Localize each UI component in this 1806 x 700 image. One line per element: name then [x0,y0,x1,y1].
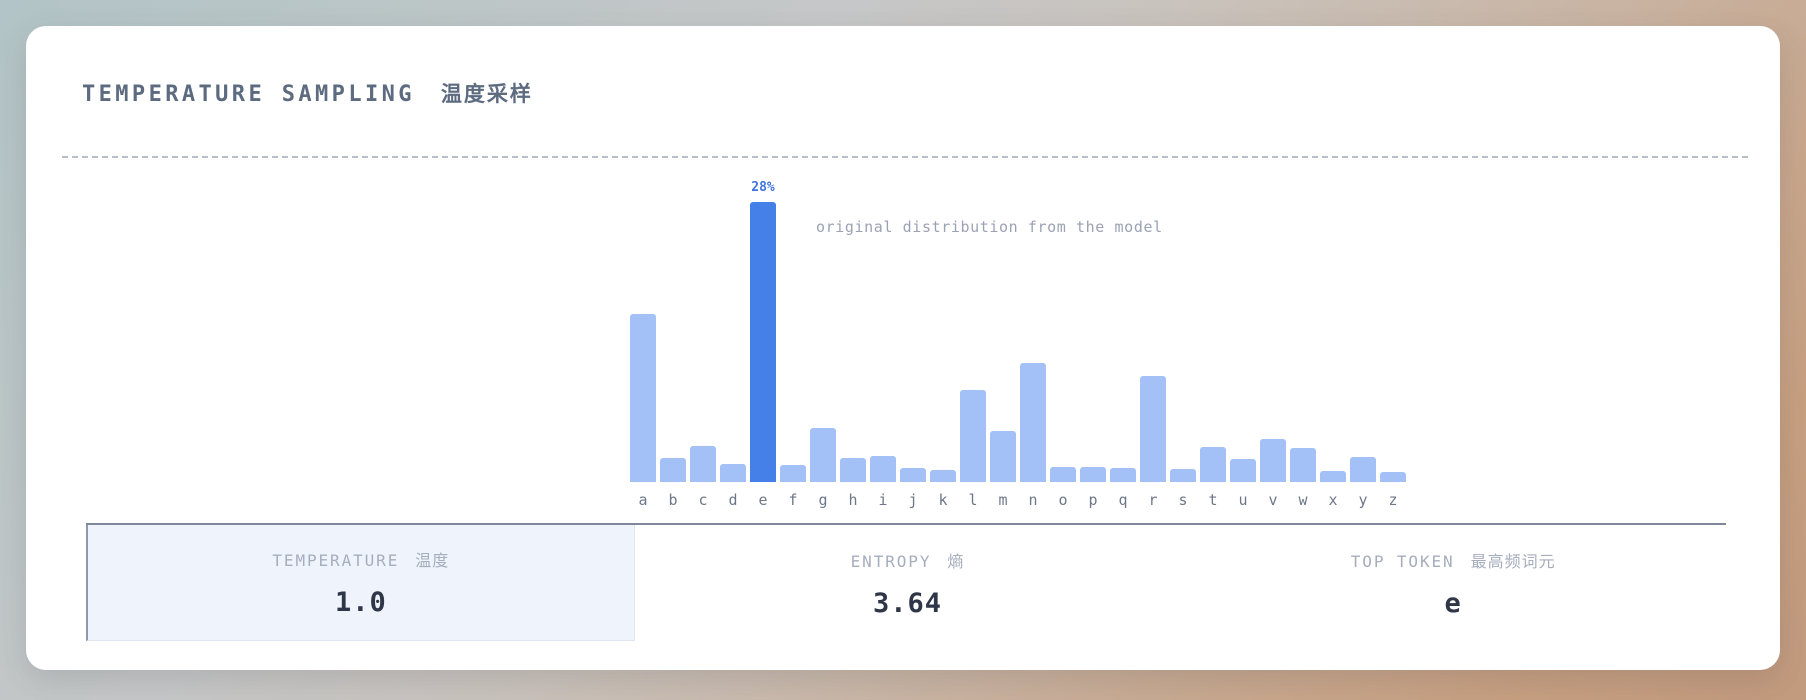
bar-axis-label: z [1388,491,1397,509]
bar-axis-label: r [1148,491,1157,509]
bar-column[interactable]: o [1048,202,1078,482]
bar[interactable] [1200,447,1226,482]
stat-label-en: ENTROPY [851,552,932,571]
stat-cell[interactable]: ENTROPY熵3.64 [635,525,1181,641]
bar[interactable] [960,390,986,482]
bar-column[interactable]: r [1138,202,1168,482]
stat-cell[interactable]: TOP TOKEN最高频词元e [1180,525,1726,641]
bar-axis-label: s [1178,491,1187,509]
page-title-en: TEMPERATURE SAMPLING [82,82,415,107]
bar-axis-label: x [1328,491,1337,509]
stat-value: 3.64 [873,588,942,619]
bar-column[interactable]: v [1258,202,1288,482]
bar-axis-label: q [1118,491,1127,509]
bar[interactable] [720,464,746,482]
stat-cell[interactable]: TEMPERATURE温度1.0 [86,525,635,641]
bar[interactable] [1050,467,1076,482]
stat-label: ENTROPY熵 [851,548,965,572]
bar-axis-label: m [998,491,1007,509]
bar-column[interactable]: q [1108,202,1138,482]
bar-column[interactable]: m [988,202,1018,482]
bar-column[interactable]: f [778,202,808,482]
bar-axis-label: i [878,491,887,509]
bar-column[interactable]: i [868,202,898,482]
bar-column[interactable]: p [1078,202,1108,482]
bar[interactable] [990,431,1016,482]
bar-column[interactable]: j [898,202,928,482]
app-root: TEMPERATURE SAMPLING 温度采样 original distr… [0,0,1806,700]
stats-row: TEMPERATURE温度1.0ENTROPY熵3.64TOP TOKEN最高频… [86,523,1726,641]
bar-column[interactable]: w [1288,202,1318,482]
bar-column[interactable]: b [658,202,688,482]
bar-axis-label: k [938,491,947,509]
bar-column[interactable]: n [1018,202,1048,482]
bar-column[interactable]: g [808,202,838,482]
stat-label-zh: 最高频词元 [1471,548,1556,572]
bar[interactable] [690,446,716,482]
bar-axis-label: u [1238,491,1247,509]
bar-column[interactable]: z [1378,202,1408,482]
bar[interactable] [840,458,866,482]
stat-value: e [1445,588,1462,619]
bar-value-label: 28% [751,180,774,195]
stat-label-en: TEMPERATURE [272,551,399,570]
stat-label-en: TOP TOKEN [1351,552,1455,571]
bar-column[interactable]: t [1198,202,1228,482]
bar-axis-label: n [1028,491,1037,509]
bar[interactable] [1020,363,1046,482]
bar[interactable] [1260,439,1286,482]
bar-axis-label: v [1268,491,1277,509]
stat-label-zh: 温度 [415,547,449,571]
bar[interactable] [870,456,896,482]
bar-axis-label: c [698,491,707,509]
bar-column[interactable]: s [1168,202,1198,482]
distribution-chart: original distribution from the model abc… [26,166,1780,526]
card-header: TEMPERATURE SAMPLING 温度采样 [82,78,533,108]
bar-axis-label: e [758,491,767,509]
bar[interactable] [1230,459,1256,482]
bar-axis-label: y [1358,491,1367,509]
bar[interactable] [900,468,926,482]
bar-axis-label: g [818,491,827,509]
bar[interactable] [660,458,686,482]
bar[interactable] [1380,472,1406,482]
bar-axis-label: j [908,491,917,509]
bar-highlighted[interactable] [750,202,776,482]
bar-axis-label: l [968,491,977,509]
bar[interactable] [1320,471,1346,482]
temperature-sampling-card: TEMPERATURE SAMPLING 温度采样 original distr… [26,26,1780,670]
stat-label: TOP TOKEN最高频词元 [1351,548,1556,572]
bar-column[interactable]: 28%e [748,202,778,482]
bar-axis-label: p [1088,491,1097,509]
bar-axis-label: f [788,491,797,509]
bar-column[interactable]: d [718,202,748,482]
bar[interactable] [1350,457,1376,482]
bar-column[interactable]: h [838,202,868,482]
bar[interactable] [780,465,806,482]
bar-axis-label: w [1298,491,1307,509]
bar-axis-label: d [728,491,737,509]
bar-column[interactable]: c [688,202,718,482]
bar[interactable] [930,470,956,482]
bar[interactable] [630,314,656,482]
stat-value: 1.0 [335,587,387,618]
bar-column[interactable]: a [628,202,658,482]
stat-label: TEMPERATURE温度 [272,547,449,571]
stat-label-zh: 熵 [947,548,964,572]
bar-axis-label: t [1208,491,1217,509]
bar[interactable] [1140,376,1166,482]
bar[interactable] [1110,468,1136,482]
bar-axis-label: a [638,491,647,509]
bar-column[interactable]: x [1318,202,1348,482]
bar-series: abcd28%efghijklmnopqrstuvwxyz [628,202,1408,482]
page-title-zh: 温度采样 [441,78,533,108]
bar[interactable] [1290,448,1316,482]
bar-column[interactable]: l [958,202,988,482]
header-divider [62,156,1748,158]
bar[interactable] [810,428,836,482]
bar-axis-label: h [848,491,857,509]
bar[interactable] [1080,467,1106,482]
bar-column[interactable]: k [928,202,958,482]
bar[interactable] [1170,469,1196,482]
bar-column[interactable]: y [1348,202,1378,482]
bar-column[interactable]: u [1228,202,1258,482]
bar-axis-label: b [668,491,677,509]
bar-axis-label: o [1058,491,1067,509]
